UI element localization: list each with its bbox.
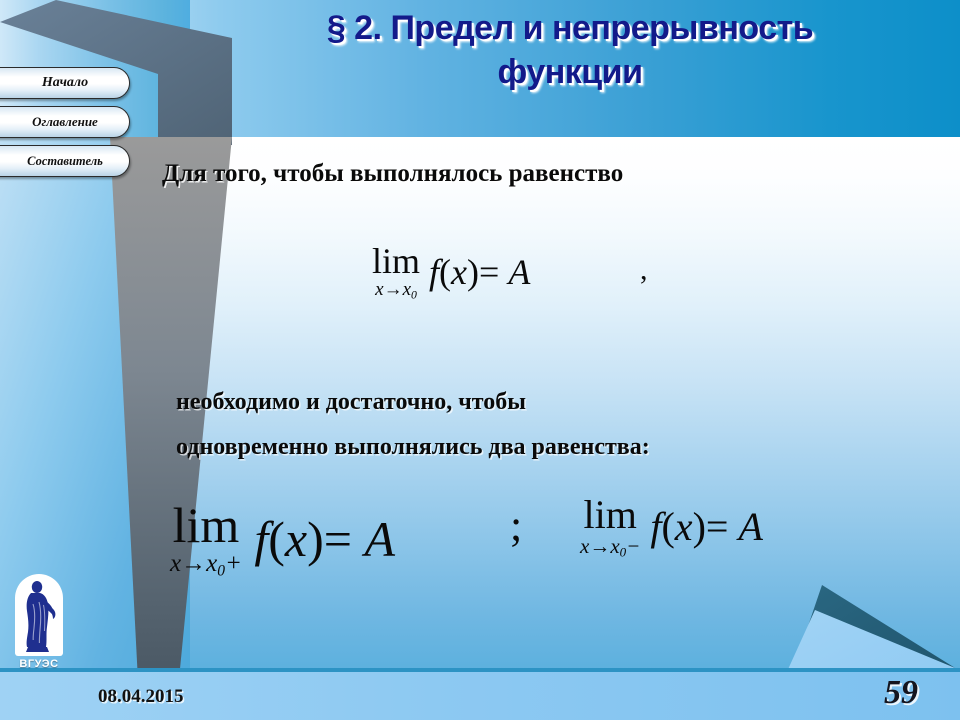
nav-button-contents-label: Оглавление xyxy=(14,114,98,130)
formula-limit-right-sided: lim x→x0+ f(x)= A ; xyxy=(170,500,395,579)
formula1-sub-x: x xyxy=(375,279,383,300)
formula2-sub-x: x xyxy=(170,550,181,577)
formula3-value: A xyxy=(738,504,762,549)
nav-buttons: Начало Оглавление Составитель xyxy=(0,67,132,184)
formula1-equals: = xyxy=(479,252,499,292)
formula1-open-paren: ( xyxy=(439,252,451,292)
formula1-lim-label: lim xyxy=(372,243,420,279)
formula3-lim-subscript: x→x0− xyxy=(580,536,640,559)
lead-text: Для того, чтобы выполнялось равенство xyxy=(162,160,623,188)
formula3-arg: x xyxy=(675,504,693,549)
formula3-fn: f xyxy=(650,504,661,549)
nav-button-author[interactable]: Составитель xyxy=(0,145,130,177)
middle-text-line-2: одновременно выполнялись два равенства: xyxy=(176,434,650,461)
formula2-lim-label: lim xyxy=(170,500,242,550)
formula2-sub-index: 0 xyxy=(217,562,225,579)
formula3-limit-operator: lim x→x0− xyxy=(580,495,640,559)
formula-limit-two-sided: lim x→x0 f(x)= A , xyxy=(372,243,530,301)
formula2-sub-var: x xyxy=(206,550,217,577)
formula1-function: f(x)= A xyxy=(420,251,530,293)
formula1-fn: f xyxy=(429,252,439,292)
slide-title: § 2. Предел и непрерывность функции xyxy=(180,6,960,94)
vgues-logo: ВГУЭС xyxy=(8,574,70,670)
formula2-fn: f xyxy=(254,511,268,567)
slide-title-line-2: функции xyxy=(180,50,960,94)
formula2-trailing-punctuation: ; xyxy=(510,500,522,551)
formula2-open-paren: ( xyxy=(268,511,285,567)
formula1-value: A xyxy=(508,252,530,292)
formula1-close-paren: ) xyxy=(467,252,479,292)
slide-page-number: 59 xyxy=(884,674,918,712)
logo-label: ВГУЭС xyxy=(8,658,70,670)
formula3-sub-sign: − xyxy=(626,534,640,558)
formula2-sub-arrow: → xyxy=(181,550,206,577)
formula3-lim-label: lim xyxy=(580,495,640,535)
formula1-sub-arrow: → xyxy=(384,279,403,300)
middle-text-line-1: необходимо и достаточно, чтобы xyxy=(176,389,526,416)
formula-limit-left-sided: lim x→x0− f(x)= A xyxy=(580,495,763,559)
formula1-limit-operator: lim x→x0 xyxy=(372,243,420,301)
formula2-function: f(x)= A xyxy=(242,510,395,568)
formula3-sub-x: x xyxy=(580,534,589,558)
formula1-sub-var: x xyxy=(403,279,411,300)
formula2-lim-subscript: x→x0+ xyxy=(170,551,242,579)
formula3-equals: = xyxy=(706,504,729,549)
formula3-sub-var: x xyxy=(610,534,619,558)
formula1-sub-index: 0 xyxy=(411,288,417,301)
formula3-open-paren: ( xyxy=(661,504,674,549)
nav-button-author-label: Составитель xyxy=(9,154,103,169)
nav-button-start-label: Начало xyxy=(24,75,88,91)
formula1-trailing-punctuation: , xyxy=(640,253,648,287)
formula3-function: f(x)= A xyxy=(640,503,763,550)
formula3-sub-arrow: → xyxy=(589,534,610,558)
nav-button-contents[interactable]: Оглавление xyxy=(0,106,130,138)
slide-date: 08.04.2015 xyxy=(98,686,184,708)
logo-shield-icon xyxy=(15,574,63,656)
formula2-limit-operator: lim x→x0+ xyxy=(170,500,242,579)
slide: § 2. Предел и непрерывность функции Нача… xyxy=(0,0,960,720)
formula2-sub-sign: + xyxy=(225,550,242,577)
formula1-lim-subscript: x→x0 xyxy=(372,280,420,301)
formula2-close-paren: ) xyxy=(307,511,324,567)
logo-figure-icon xyxy=(15,574,63,656)
formula2-value: A xyxy=(364,511,395,567)
slide-title-line-1: § 2. Предел и непрерывность xyxy=(180,6,960,50)
nav-button-start[interactable]: Начало xyxy=(0,67,130,99)
formula2-arg: x xyxy=(285,511,307,567)
formula3-close-paren: ) xyxy=(693,504,706,549)
formula1-arg: x xyxy=(451,252,467,292)
formula2-equals: = xyxy=(324,511,352,567)
